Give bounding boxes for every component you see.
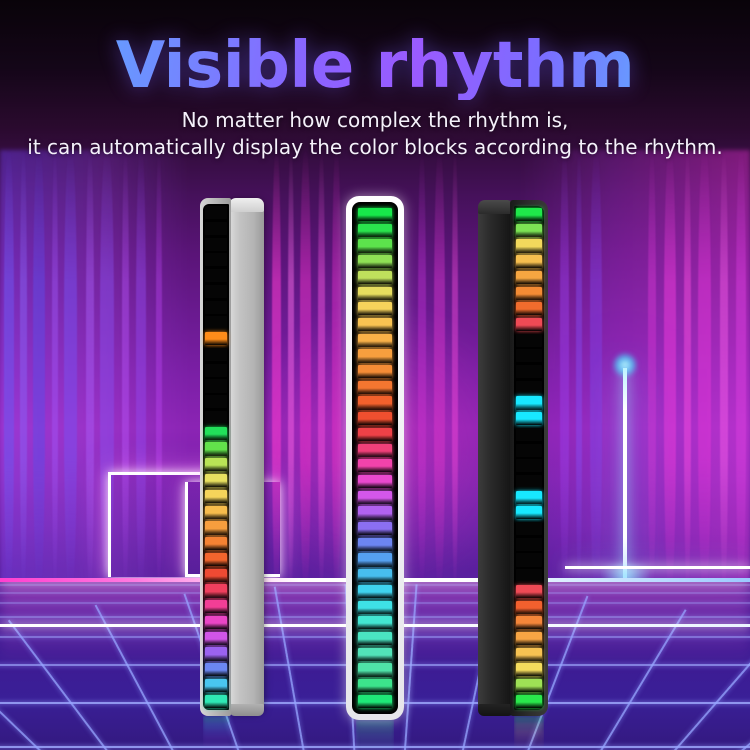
led-segment	[516, 318, 542, 331]
led-segment	[358, 506, 392, 519]
page-title: Visible rhythm	[0, 0, 750, 100]
led-segment	[205, 632, 227, 645]
led-segment	[358, 444, 392, 457]
led-segment	[205, 285, 227, 298]
led-segment	[205, 442, 227, 455]
led-segment	[205, 269, 227, 282]
led-segment	[205, 222, 227, 235]
led-face-white	[356, 206, 394, 710]
led-segment	[205, 427, 227, 440]
led-segment	[358, 318, 392, 331]
page-subtitle: No matter how complex the rhythm is, it …	[0, 107, 750, 161]
led-segment	[358, 255, 392, 268]
led-segment	[358, 616, 392, 629]
led-segment	[205, 506, 227, 519]
led-segment	[358, 569, 392, 582]
led-segment	[358, 224, 392, 237]
product-banner: Visible rhythm No matter how complex the…	[0, 0, 750, 750]
led-segment	[205, 364, 227, 377]
silver-body-panel	[229, 200, 264, 714]
black-body-top-cap	[478, 200, 514, 214]
led-segment	[205, 332, 227, 345]
led-segment	[516, 569, 542, 582]
led-segment	[358, 663, 392, 676]
led-segment	[358, 302, 392, 315]
led-segment	[205, 600, 227, 613]
led-segment	[516, 302, 542, 315]
led-segment	[516, 663, 542, 676]
led-segment	[358, 271, 392, 284]
led-segment	[516, 679, 542, 692]
led-segment	[205, 458, 227, 471]
led-segment	[516, 695, 542, 708]
led-segment	[516, 287, 542, 300]
silver-body-top-cap	[229, 198, 264, 212]
led-segment	[205, 253, 227, 266]
led-segment	[205, 695, 227, 708]
led-segment	[205, 679, 227, 692]
led-segment	[358, 412, 392, 425]
led-segment	[358, 601, 392, 614]
led-segment	[358, 365, 392, 378]
led-segment	[358, 287, 392, 300]
led-segment	[358, 648, 392, 661]
led-segment	[516, 459, 542, 472]
led-bar-black[interactable]	[478, 200, 548, 716]
led-segment	[516, 224, 542, 237]
led-segment	[516, 491, 542, 504]
led-segment	[358, 459, 392, 472]
led-segment	[205, 490, 227, 503]
led-segment	[358, 381, 392, 394]
led-segment	[205, 537, 227, 550]
led-segment	[516, 255, 542, 268]
led-segment	[358, 396, 392, 409]
led-segment	[516, 396, 542, 409]
led-segment	[205, 663, 227, 676]
led-segment	[358, 553, 392, 566]
led-segment	[516, 381, 542, 394]
led-segment	[516, 538, 542, 551]
led-face-black	[514, 206, 544, 710]
led-segment	[205, 647, 227, 660]
led-segment	[205, 379, 227, 392]
led-segment	[358, 428, 392, 441]
led-segment	[516, 522, 542, 535]
led-segment	[205, 553, 227, 566]
led-bar-silver[interactable]	[200, 198, 264, 716]
led-segment	[205, 316, 227, 329]
led-segment	[358, 522, 392, 535]
led-segment	[516, 616, 542, 629]
led-segment	[516, 553, 542, 566]
led-segment	[516, 475, 542, 488]
led-segment	[516, 506, 542, 519]
led-segment	[358, 334, 392, 347]
headline-block: Visible rhythm No matter how complex the…	[0, 0, 750, 161]
led-segment	[516, 412, 542, 425]
led-segment	[205, 395, 227, 408]
led-segment	[516, 365, 542, 378]
led-segment	[516, 334, 542, 347]
led-segment	[358, 349, 392, 362]
led-segment	[516, 444, 542, 457]
led-segment	[205, 521, 227, 534]
led-segment	[358, 538, 392, 551]
led-segment	[358, 475, 392, 488]
led-segment	[358, 632, 392, 645]
led-segment	[205, 238, 227, 251]
led-segment	[516, 585, 542, 598]
led-segment	[205, 616, 227, 629]
led-segment	[358, 239, 392, 252]
led-segment	[358, 585, 392, 598]
led-segment	[205, 301, 227, 314]
led-segment	[358, 679, 392, 692]
led-segment	[205, 569, 227, 582]
silver-body-bottom-cap	[229, 704, 264, 716]
led-segment	[205, 206, 227, 219]
led-segment	[516, 632, 542, 645]
subtitle-line-2: it can automatically display the color b…	[0, 134, 750, 161]
led-bar-white[interactable]	[346, 196, 404, 720]
led-segment	[516, 648, 542, 661]
led-segment	[358, 491, 392, 504]
led-segment	[516, 428, 542, 441]
black-body-bottom-cap	[478, 704, 514, 716]
led-segment	[516, 271, 542, 284]
led-segment	[358, 695, 392, 708]
led-segment	[358, 208, 392, 221]
led-segment	[205, 411, 227, 424]
led-segment	[516, 349, 542, 362]
led-segment	[516, 239, 542, 252]
led-segment	[205, 348, 227, 361]
black-body-panel	[478, 204, 514, 712]
led-segment	[516, 208, 542, 221]
led-face-silver	[203, 204, 229, 710]
subtitle-line-1: No matter how complex the rhythm is,	[182, 108, 569, 132]
led-segment	[205, 474, 227, 487]
led-segment	[205, 584, 227, 597]
led-segment	[516, 601, 542, 614]
